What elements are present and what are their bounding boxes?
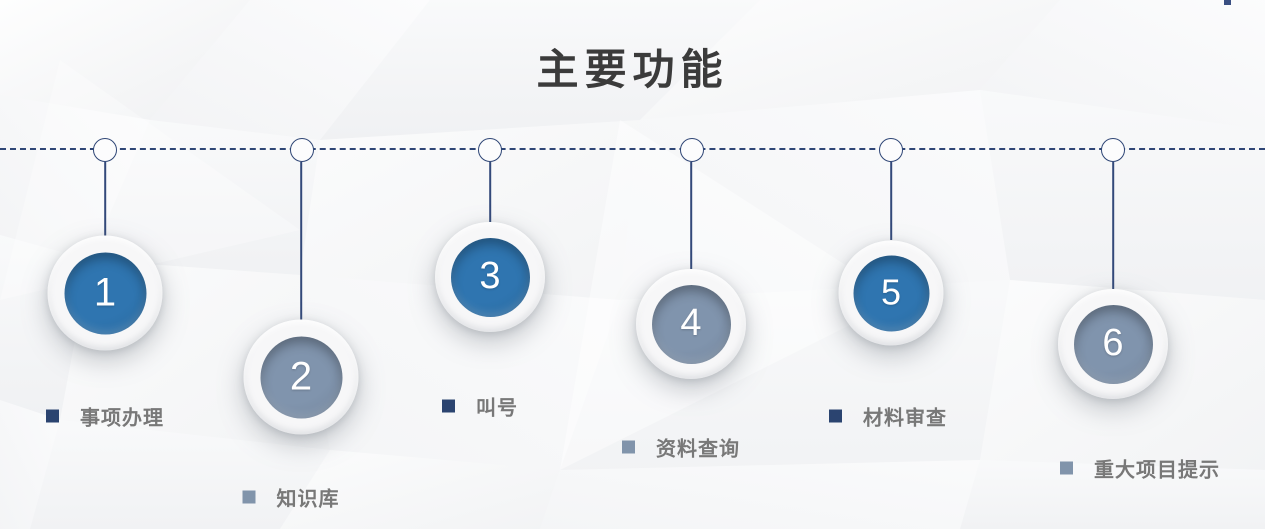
slide-canvas: 主要功能 1事项办理2知识库3叫号4资料查询5材料审查6重大项目提示 (0, 0, 1265, 529)
step-badge-5[interactable]: 5 (839, 241, 944, 346)
step-number-3: 3 (479, 257, 500, 295)
connector-line-3 (489, 162, 491, 222)
step-label-4: 资料查询 (656, 433, 740, 462)
timeline-node-2[interactable] (290, 138, 314, 162)
timeline-node-4[interactable] (680, 138, 704, 162)
step-badge-6[interactable]: 6 (1058, 289, 1168, 399)
square-bullet-icon (622, 441, 635, 454)
step-number-5: 5 (881, 274, 901, 310)
timeline-node-5[interactable] (879, 138, 903, 162)
step-badge-1[interactable]: 1 (48, 236, 163, 351)
step-caption-2[interactable]: 知识库 (243, 483, 340, 512)
connector-line-4 (690, 162, 692, 269)
step-disc-1: 1 (64, 252, 146, 334)
step-badge-4[interactable]: 4 (636, 269, 746, 379)
timeline-node-6[interactable] (1101, 138, 1125, 162)
step-number-2: 2 (290, 356, 312, 396)
square-bullet-icon (1060, 462, 1073, 475)
step-disc-3: 3 (451, 238, 530, 317)
step-number-4: 4 (680, 304, 701, 342)
connector-line-6 (1112, 162, 1114, 290)
step-caption-4[interactable]: 资料查询 (622, 433, 740, 462)
step-caption-6[interactable]: 重大项目提示 (1060, 454, 1220, 483)
square-bullet-icon (46, 410, 59, 423)
step-label-5: 材料审查 (863, 402, 947, 431)
timeline-node-1[interactable] (93, 138, 117, 162)
step-caption-3[interactable]: 叫号 (442, 392, 518, 421)
step-number-1: 1 (94, 272, 116, 312)
connector-line-1 (104, 162, 106, 236)
step-caption-5[interactable]: 材料审查 (829, 402, 947, 431)
step-label-1: 事项办理 (80, 402, 164, 431)
step-disc-4: 4 (652, 285, 731, 364)
square-bullet-icon (442, 400, 455, 413)
step-disc-5: 5 (853, 255, 929, 331)
step-badge-3[interactable]: 3 (435, 222, 545, 332)
connector-line-5 (890, 162, 892, 240)
page-title: 主要功能 (0, 36, 1265, 97)
step-disc-2: 2 (260, 336, 342, 418)
step-badge-2[interactable]: 2 (244, 320, 359, 435)
step-label-3: 叫号 (476, 392, 518, 421)
connector-line-2 (300, 162, 302, 320)
step-number-6: 6 (1102, 324, 1123, 362)
corner-mark (1224, 0, 1231, 5)
timeline-node-3[interactable] (478, 138, 502, 162)
step-disc-6: 6 (1074, 305, 1153, 384)
step-label-2: 知识库 (277, 483, 340, 512)
timeline-dashed-line (0, 148, 1265, 155)
square-bullet-icon (243, 491, 256, 504)
step-label-6: 重大项目提示 (1094, 454, 1220, 483)
square-bullet-icon (829, 410, 842, 423)
step-caption-1[interactable]: 事项办理 (46, 402, 164, 431)
